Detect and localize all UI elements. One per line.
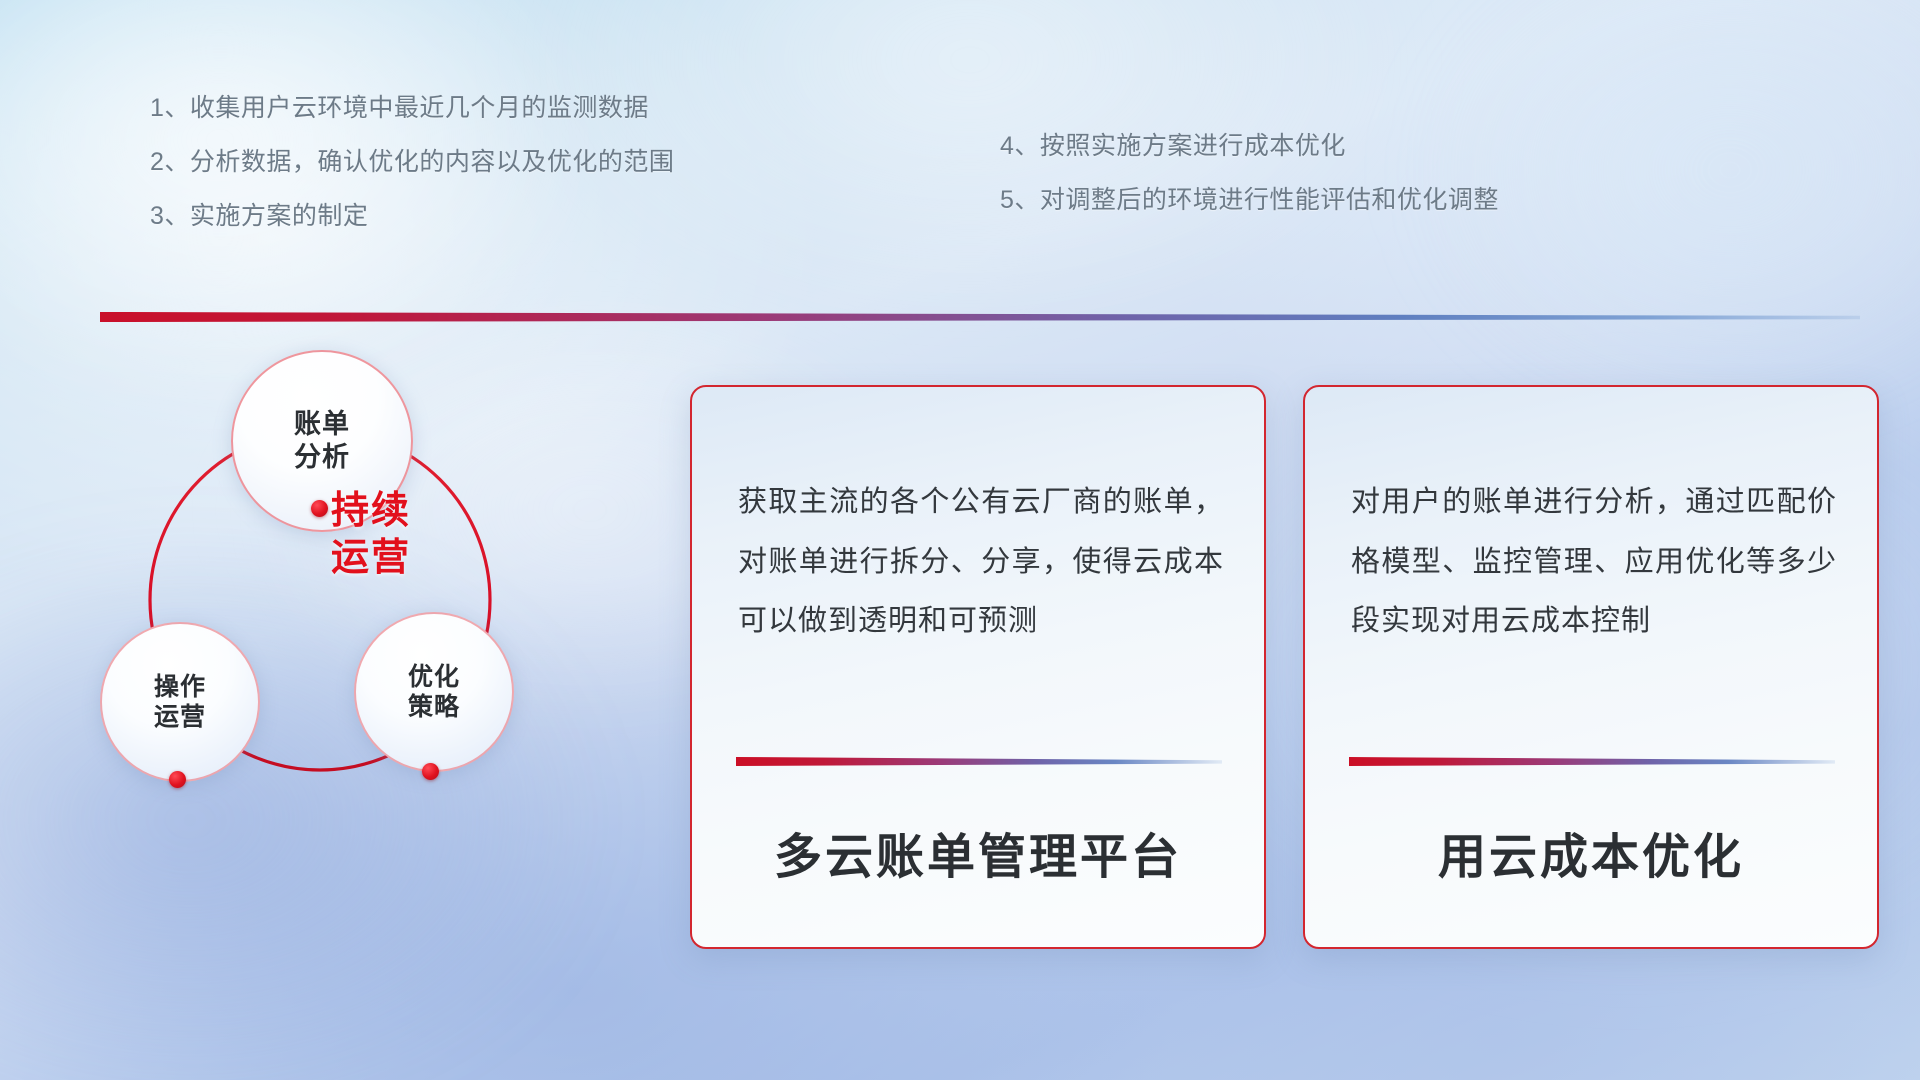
venn-bubble-operation-management-label: 操作运营: [154, 672, 206, 733]
venn-bubble-operation-management[interactable]: 操作运营: [100, 622, 260, 782]
card-2-body-text: 对用户的账单进行分析，通过匹配价格模型、监控管理、应用优化等多少段实现对用云成本…: [1351, 473, 1837, 652]
step-item-5: 5、对调整后的环境进行性能评估和优化调整: [1000, 188, 1499, 213]
step-item-2: 2、分析数据，确认优化的内容以及优化的范围: [150, 150, 674, 175]
continuous-operation-diagram: 账单分析 操作运营 优化策略 持续运营: [100, 350, 570, 950]
venn-node-dot-bottom-right: [422, 763, 439, 780]
card-multi-cloud-billing-platform[interactable]: 获取主流的各个公有云厂商的账单，对账单进行拆分、分享，使得云成本可以做到透明和可…: [690, 385, 1266, 949]
step-item-3: 3、实施方案的制定: [150, 204, 674, 229]
card-1-divider-bar: [736, 757, 1222, 766]
step-item-4: 4、按照实施方案进行成本优化: [1000, 134, 1499, 159]
card-1-title: 多云账单管理平台: [692, 817, 1264, 887]
slide-canvas: 1、收集用户云环境中最近几个月的监测数据 2、分析数据，确认优化的内容以及优化的…: [0, 0, 1920, 1080]
step-list-left-column: 1、收集用户云环境中最近几个月的监测数据 2、分析数据，确认优化的内容以及优化的…: [150, 96, 674, 258]
step-list-right-column: 4、按照实施方案进行成本优化 5、对调整后的环境进行性能评估和优化调整: [1000, 134, 1499, 242]
card-cloud-cost-optimization[interactable]: 对用户的账单进行分析，通过匹配价格模型、监控管理、应用优化等多少段实现对用云成本…: [1303, 385, 1879, 949]
card-1-body-text: 获取主流的各个公有云厂商的账单，对账单进行拆分、分享，使得云成本可以做到透明和可…: [738, 473, 1224, 652]
header-divider-bar: [100, 312, 1860, 322]
card-1-divider-rule: [736, 757, 1222, 766]
card-2-divider-rule: [1349, 757, 1835, 766]
venn-bubble-optimization-strategy-label: 优化策略: [408, 662, 460, 723]
card-2-title: 用云成本优化: [1305, 817, 1877, 887]
card-2-divider-bar: [1349, 757, 1835, 766]
venn-node-dot-bottom-left: [169, 771, 186, 788]
venn-center-label: 持续运营: [276, 488, 466, 582]
venn-bubble-billing-analysis-label: 账单分析: [294, 408, 350, 474]
venn-bubble-optimization-strategy[interactable]: 优化策略: [354, 612, 514, 772]
header-divider-rule: [100, 312, 1860, 322]
step-list: 1、收集用户云环境中最近几个月的监测数据 2、分析数据，确认优化的内容以及优化的…: [0, 96, 1920, 256]
step-item-1: 1、收集用户云环境中最近几个月的监测数据: [150, 96, 674, 121]
